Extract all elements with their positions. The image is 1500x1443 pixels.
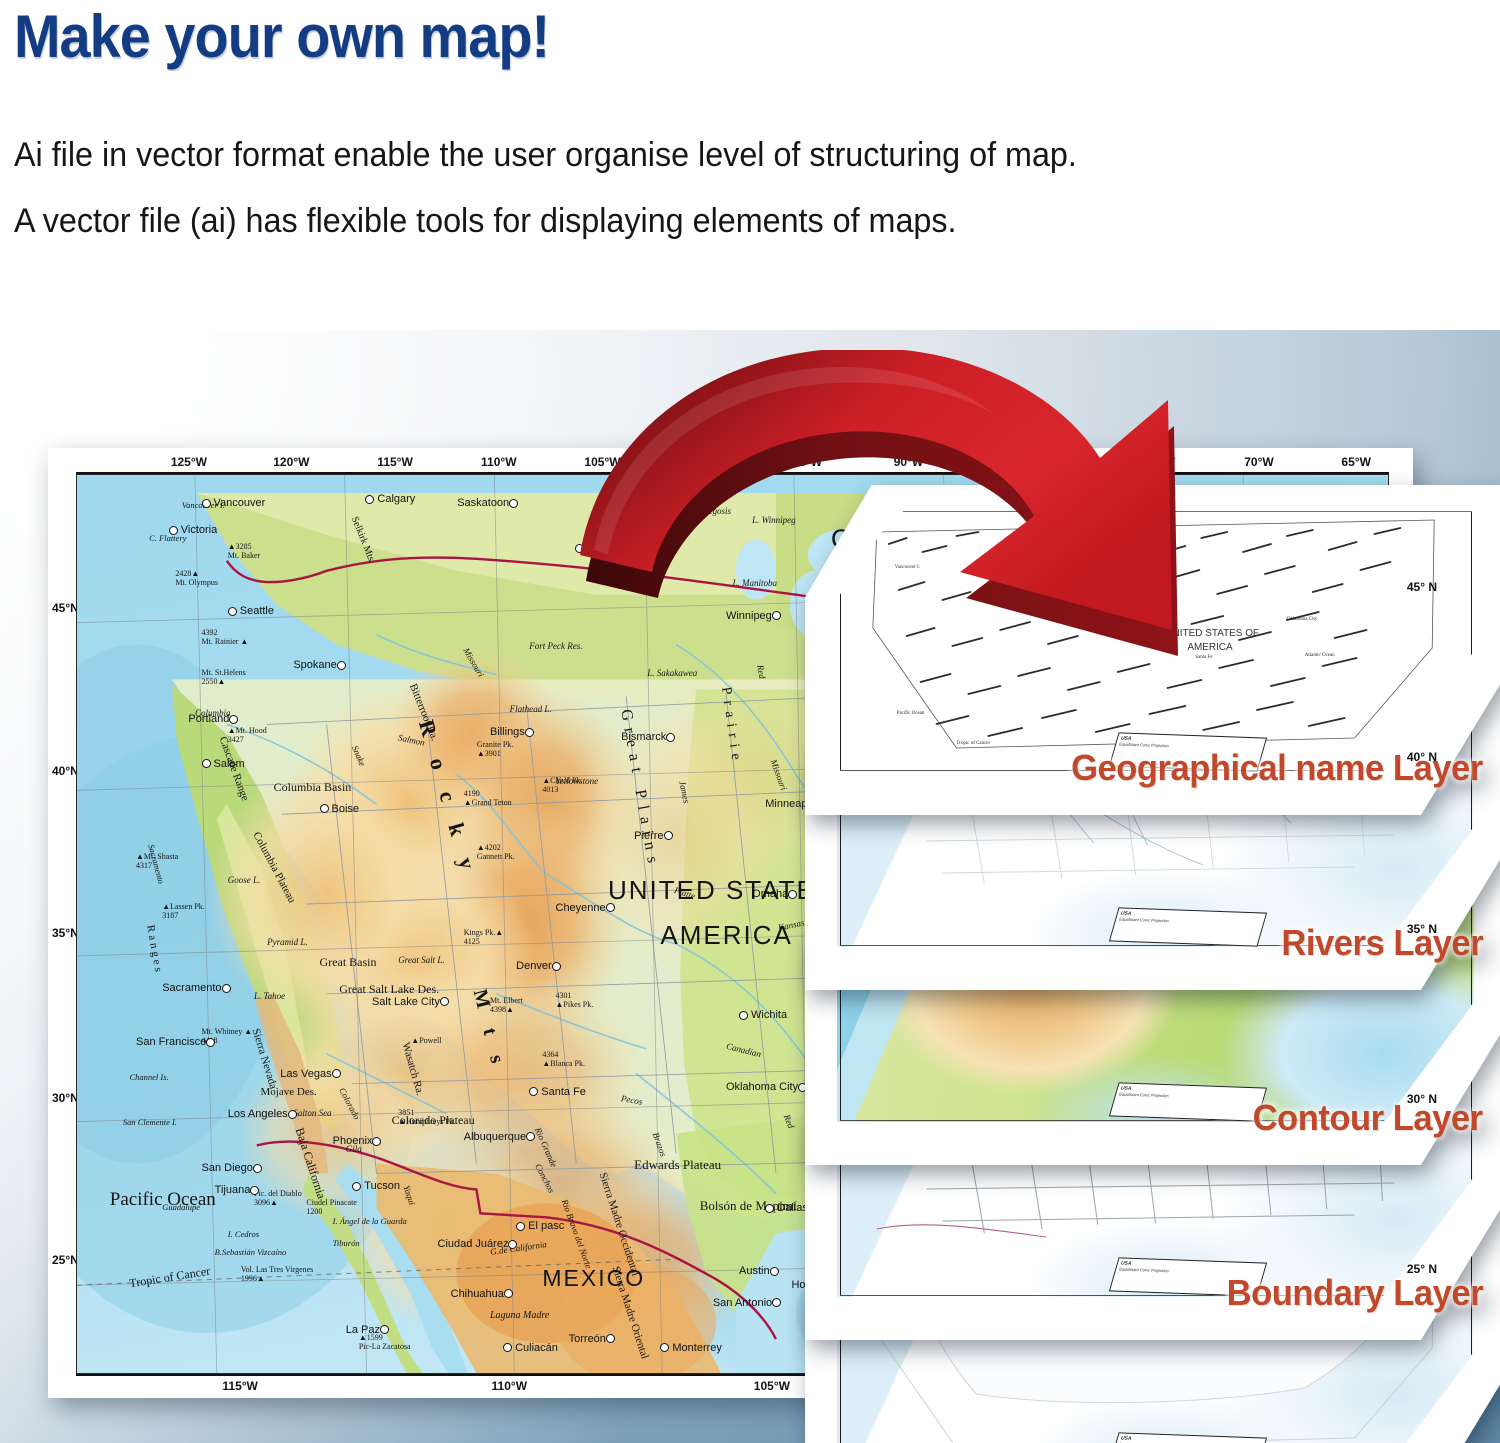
city-victoria: Victoria <box>169 524 217 536</box>
label-i-angel-de-la-guarda: I. Ángel de la Guarda <box>333 1216 407 1226</box>
city-spokane: Spokane <box>293 659 348 671</box>
city-saskatoon: Saskatoon <box>457 497 521 509</box>
city-seattle: Seattle <box>228 605 274 617</box>
city-portland: Portland <box>188 713 241 725</box>
layer-caption-contour: Contour Layer <box>1253 1097 1483 1139</box>
label-channel-is: Channel Is. <box>129 1072 168 1082</box>
city-monterrey: Monterrey <box>660 1342 722 1354</box>
city-bismarck: Bismarck <box>621 731 678 743</box>
lon-label: 105°W <box>754 1379 790 1393</box>
city-chihuahua: Chihuahua <box>451 1288 516 1300</box>
subtitle-line-2: A vector file (ai) has flexible tools fo… <box>14 202 957 241</box>
city-las-vegas: Las Vegas <box>280 1068 343 1080</box>
label-l-tahoe: L. Tahoe <box>254 991 285 1001</box>
label-great-basin: Great Basin <box>320 955 377 970</box>
label-laguna-madre: Laguna Madre <box>490 1310 549 1321</box>
label-b-sebastian-vizcaino: B.Sebastián Vizcaíno <box>215 1247 287 1257</box>
city-culiacan: Culiacán <box>503 1342 558 1354</box>
layer-sheet-geographical-name[interactable]: Vancouver I. Columbia Basin Great Basin … <box>805 485 1500 815</box>
layer-lat-mark: 40° N <box>1407 750 1437 764</box>
peak-granite-pk: Granite Pk.▲3901 <box>477 740 513 758</box>
layer-legend-rivers: USAEquidistant Conic Projection <box>1109 907 1267 946</box>
lon-label: 75°W <box>1146 455 1175 469</box>
city-oklahoma-city: Oklahoma City <box>726 1081 810 1093</box>
city-pierre: Pierre <box>634 830 675 842</box>
peak-mt-shasta: ▲Mt. Shasta4317 <box>136 852 178 870</box>
peak-cloud-pk: ▲Cloud Pk.4013 <box>542 776 582 794</box>
longitude-ruler-top: 125°W 120°W 115°W 110°W 105°W 100°W 95°W… <box>76 450 1389 474</box>
city-austin: Austin <box>739 1265 782 1277</box>
peak-powell: ▲Powell <box>411 1036 441 1045</box>
peak-mt-olympus: 2428▲Mt. Olympus <box>175 569 218 587</box>
peak-grand-teton: 4190▲Grand Teton <box>464 789 512 807</box>
lon-label: 120°W <box>273 455 309 469</box>
lat-label-left: 40°N <box>52 764 79 778</box>
label-great-salt-l: Great Salt L. <box>398 955 444 965</box>
subtitle-line-1: Ai file in vector format enable the user… <box>14 136 1077 175</box>
city-wichita: Wichita <box>739 1009 787 1021</box>
peak-blanca-pk: 4364▲Blanca Pk. <box>542 1050 585 1068</box>
illustration-scene: 125°W 120°W 115°W 110°W 105°W 100°W 95°W… <box>0 330 1500 1443</box>
city-omaha: Omaha <box>752 888 800 900</box>
city-salt-lake-city: Salt Lake City <box>372 996 452 1008</box>
city-torreon: Torreón <box>569 1333 618 1345</box>
city-denver: Denver <box>516 960 563 972</box>
peak-mt-st-helens: Mt. St.Helens2550▲ <box>202 668 246 686</box>
city-boise: Boise <box>320 803 360 815</box>
lon-label: 105°W <box>584 455 620 469</box>
layer-lat-mark: 30° N <box>1407 1092 1437 1106</box>
city-winnipeg: Winnipeg <box>726 610 784 622</box>
label-columbia-basin: Columbia Basin <box>274 780 352 795</box>
city-phoenix: Phoenix <box>333 1135 385 1147</box>
peak-vol-las-tres-virgenes: Vol. Las Tres Virgenes1996▲ <box>241 1265 313 1283</box>
layer-lat-mark: 35° N <box>1407 922 1437 936</box>
peak-mt-baker: ▲3285Mt. Baker <box>228 542 260 560</box>
layer-caption-boundary: Boundary Layer <box>1227 1272 1483 1314</box>
city-calgary: Calgary <box>365 493 415 505</box>
peak-lassen-pk: ▲Lassen Pk.3187 <box>162 902 205 920</box>
label-i-cedros: I. Cedros <box>228 1229 259 1239</box>
lon-label: 115°W <box>377 455 412 469</box>
city-san-francisco: San Francisco <box>136 1036 218 1048</box>
peak-pikes-pk: 4301▲Pikes Pk. <box>556 991 594 1009</box>
city-ciudad-juarez: Ciudad Juárez <box>438 1238 521 1250</box>
label-edwards-plateau: Edwards Plateau <box>634 1157 721 1173</box>
city-san-antonio: San Antonio <box>713 1297 784 1309</box>
country-label-usa-line2: AMERICA <box>660 920 792 951</box>
city-sacramento: Sacramento <box>162 982 233 994</box>
lon-label: 85°W <box>995 455 1024 469</box>
peak-kings-pk: Kings Pk.▲4125 <box>464 928 503 946</box>
city-santa-fe: Santa Fe <box>529 1086 586 1098</box>
page-title: Make your own map! <box>14 2 549 71</box>
city-vancouver: Vancouver <box>202 497 266 509</box>
label-pyramid-l: Pyramid L. <box>267 937 308 947</box>
city-albuquerque: Albuquerque <box>464 1131 538 1143</box>
header-block: Make your own map! Ai file in vector for… <box>0 0 1500 330</box>
label-goose-l: Goose L. <box>228 875 261 885</box>
peak-ciudel-pinacate: Ciudel Pinacate1200 <box>306 1198 356 1216</box>
layer-legend-contour: USAEquidistant Conic Projection <box>1109 1082 1267 1121</box>
city-los-angeles: Los Angeles <box>228 1108 300 1120</box>
city-el-paso: El pasc <box>516 1220 564 1232</box>
label-tiburon: Tiburón <box>333 1238 360 1248</box>
lon-label: 95°W <box>793 455 822 469</box>
lat-label-left: 25°N <box>52 1253 79 1267</box>
lat-label-left: 45°N <box>52 601 79 615</box>
lon-label: 90°W <box>894 455 923 469</box>
city-cheyenne: Cheyenne <box>556 902 618 914</box>
peak-humphreys-pk: 3851▲Humphreys Pk. <box>398 1108 456 1126</box>
city-salem: Salem <box>202 758 245 770</box>
lon-label: 65°W <box>1341 455 1370 469</box>
label-l-winnipegosis: L. Winnipegosis <box>674 506 732 516</box>
city-billings: Billings <box>490 726 537 738</box>
label-san-clemente-i: San Clemente I. <box>123 1117 177 1127</box>
layer-frame <box>840 511 1472 770</box>
lon-label: 110°W <box>481 455 516 469</box>
lat-label-left: 35°N <box>52 926 79 940</box>
city-san-diego: San Diego <box>202 1162 265 1174</box>
city-la-paz: La Paz <box>346 1324 392 1336</box>
city-dallas: Dallas <box>765 1202 808 1214</box>
peak-mt-rainier: 4392Mt. Rainier ▲ <box>202 628 249 646</box>
layer-lat-mark: 25° N <box>1407 1262 1437 1276</box>
label-mojave-des: Mojave Des. <box>261 1086 317 1098</box>
peak-mt-hood: ▲Mt. Hood3427 <box>228 726 267 744</box>
city-tijuana: Tijuana <box>215 1184 263 1196</box>
lon-label: 110°W <box>492 1379 527 1393</box>
lon-label: 125°W <box>171 455 207 469</box>
lon-label: 100°W <box>687 455 723 469</box>
label-flathead-l: Flathead L. <box>510 704 552 714</box>
city-tucson: Tucson <box>352 1180 400 1192</box>
lon-label: 70°W <box>1244 455 1273 469</box>
label-fort-peck-res: Fort Peck Res. <box>529 641 582 651</box>
city-regina: Regina <box>575 542 622 554</box>
label-l-sakakawea: L. Sakakawea <box>647 668 697 678</box>
label-guadalupe: Guadalupe <box>162 1202 200 1212</box>
layer-lat-mark: 45° N <box>1407 580 1437 594</box>
peak-mt-elbert: Mt. Elbert4398▲ <box>490 996 523 1014</box>
peak-gannett-pk: ▲4202Gannett Pk. <box>477 843 515 861</box>
label-l-winnipeg: L. Winnipeg <box>752 515 796 525</box>
layer-caption-rivers: Rivers Layer <box>1281 922 1483 964</box>
label-l-manitoba: L. Manitoba <box>733 578 778 588</box>
lat-label-left: 30°N <box>52 1091 79 1105</box>
lon-label: 115°W <box>222 1379 257 1393</box>
